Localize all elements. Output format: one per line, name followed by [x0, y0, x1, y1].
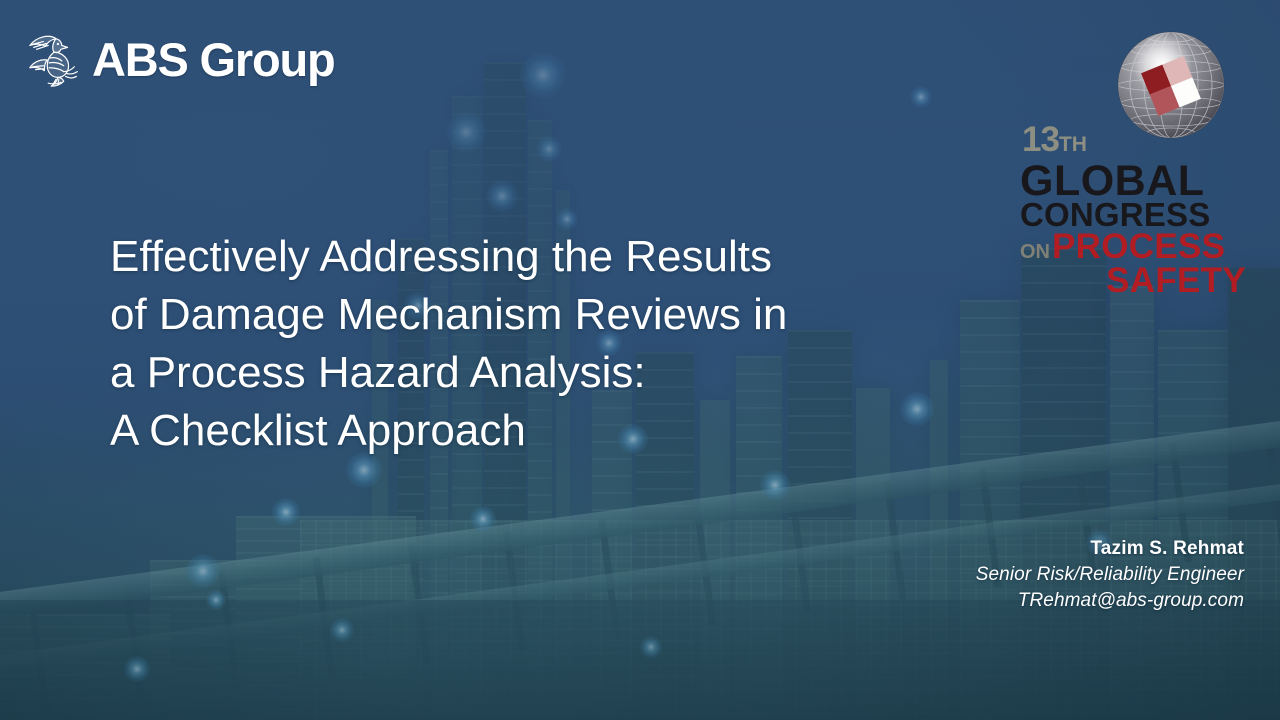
title-line: of Damage Mechanism Reviews in — [110, 286, 890, 344]
congress-preposition: ON — [1020, 242, 1050, 262]
global-congress-logo: 13TH GLOBAL CONGRESS ON PROCESS SAFETY — [1016, 24, 1248, 274]
author-email: TRehmat@abs-group.com — [976, 588, 1244, 614]
congress-line-process: PROCESS — [1052, 229, 1225, 264]
abs-group-logo: ABS Group — [24, 28, 334, 90]
title-line: a Process Hazard Analysis: — [110, 344, 890, 402]
congress-line-process-row: ON PROCESS — [1020, 229, 1225, 264]
author-name: Tazim S. Rehmat — [976, 536, 1244, 562]
title-slide: ABS Group — [0, 0, 1280, 720]
abs-group-wordmark: ABS Group — [92, 36, 334, 83]
title-line: A Checklist Approach — [110, 402, 890, 460]
congress-line-safety: SAFETY — [1106, 263, 1246, 298]
author-role: Senior Risk/Reliability Engineer — [976, 562, 1244, 588]
globe-with-diamonds-icon — [1110, 24, 1232, 146]
title-line: Effectively Addressing the Results — [110, 228, 890, 286]
abs-eagle-icon — [24, 28, 86, 90]
congress-edition: 13TH — [1022, 122, 1087, 157]
page-title: Effectively Addressing the Results of Da… — [110, 228, 890, 460]
author-block: Tazim S. Rehmat Senior Risk/Reliability … — [976, 536, 1244, 614]
